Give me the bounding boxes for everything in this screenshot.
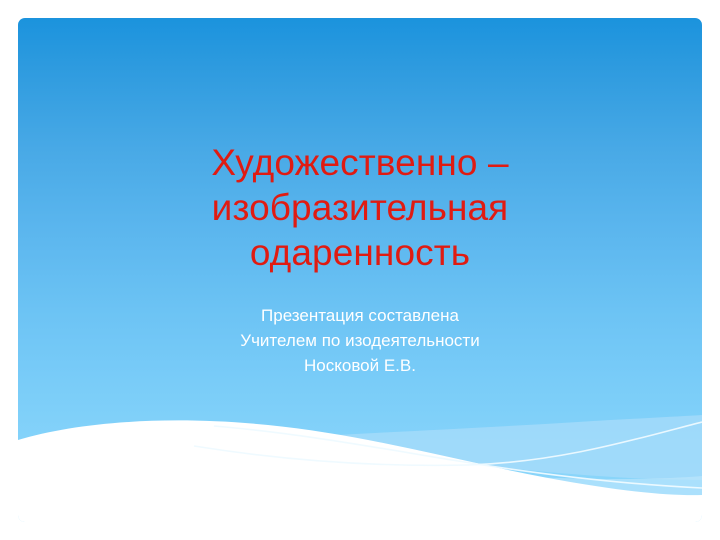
slide-subtitle[interactable]: Презентация составлена Учителем по изоде… xyxy=(78,303,642,378)
presentation-slide[interactable]: Художественно – изобразительная одаренно… xyxy=(18,18,702,522)
title-line-3: одаренность xyxy=(78,230,642,275)
slide-canvas: Художественно – изобразительная одаренно… xyxy=(0,0,720,540)
title-line-2: изобразительная xyxy=(78,185,642,230)
subtitle-line-1: Презентация составлена xyxy=(78,303,642,328)
subtitle-line-2: Учителем по изодеятельности xyxy=(78,328,642,353)
title-line-1: Художественно – xyxy=(78,140,642,185)
subtitle-line-3: Носковой Е.В. xyxy=(78,353,642,378)
slide-title[interactable]: Художественно – изобразительная одаренно… xyxy=(78,140,642,275)
